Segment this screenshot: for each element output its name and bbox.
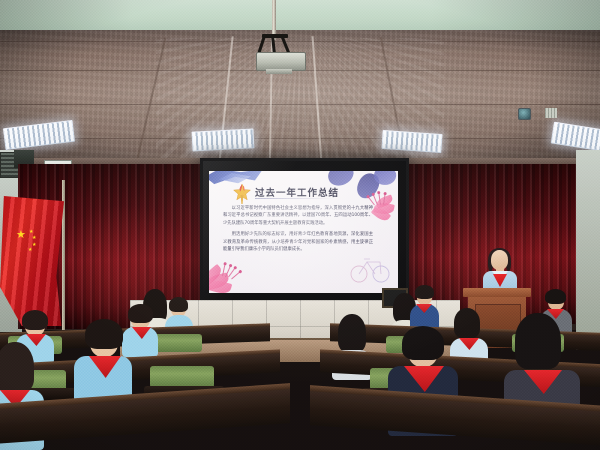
student-hair xyxy=(0,342,34,392)
student-hair xyxy=(169,297,188,312)
ceiling-light-panel xyxy=(381,130,442,153)
slide-body-text: 以习近平新时代中国特色社会主义思想为指导，深入贯彻党的十九大精神和习近平总书记视… xyxy=(223,205,373,257)
upper-wall-shading xyxy=(0,0,600,34)
pink-flower-decoration-icon xyxy=(209,263,247,293)
slide-title: 过去一年工作总结 xyxy=(255,185,339,199)
ceiling-light-panel xyxy=(192,128,255,151)
student-hair xyxy=(22,310,48,330)
student-hair xyxy=(415,285,434,299)
slide-paragraph: 用活用好少先队的标志标识，用好青少年红色教育基地资源，深化爱国主义教育及革命传统… xyxy=(223,231,373,253)
student-hair xyxy=(515,313,561,369)
student-hair xyxy=(545,289,566,304)
student-hair xyxy=(454,308,480,338)
student-hair xyxy=(128,304,153,323)
projector-lens-icon xyxy=(518,108,531,120)
presentation-slide: 过去一年工作总结 以习近平新时代中国特色社会主义思想为指导，深入贯彻党的十九大精… xyxy=(209,171,398,293)
suspended-ceiling xyxy=(0,30,600,162)
projection-screen: 过去一年工作总结 以习近平新时代中国特色社会主义思想为指导，深入贯彻党的十九大精… xyxy=(200,158,409,312)
right-side-wall xyxy=(576,150,600,350)
student-hair xyxy=(85,319,123,349)
slide-title-underline xyxy=(255,198,333,199)
ceiling-vignette xyxy=(0,30,600,162)
auditorium-seat xyxy=(150,366,214,388)
lectern-top xyxy=(463,288,531,297)
slide-paragraph: 以习近平新时代中国特色社会主义思想为指导，深入贯彻党的十九大精神和习近平总书记视… xyxy=(223,205,373,227)
projector-vent xyxy=(545,108,557,118)
projector-base xyxy=(266,69,292,74)
flag-stars-icon: ★ ★ ★ ★ ★ xyxy=(16,230,42,256)
auditorium-photo: 安全出口 ★ ★ ★ ★ ★ xyxy=(0,0,600,450)
student-hair xyxy=(338,314,366,352)
torch-star-emblem-icon xyxy=(231,183,253,205)
student-hair xyxy=(402,326,444,360)
